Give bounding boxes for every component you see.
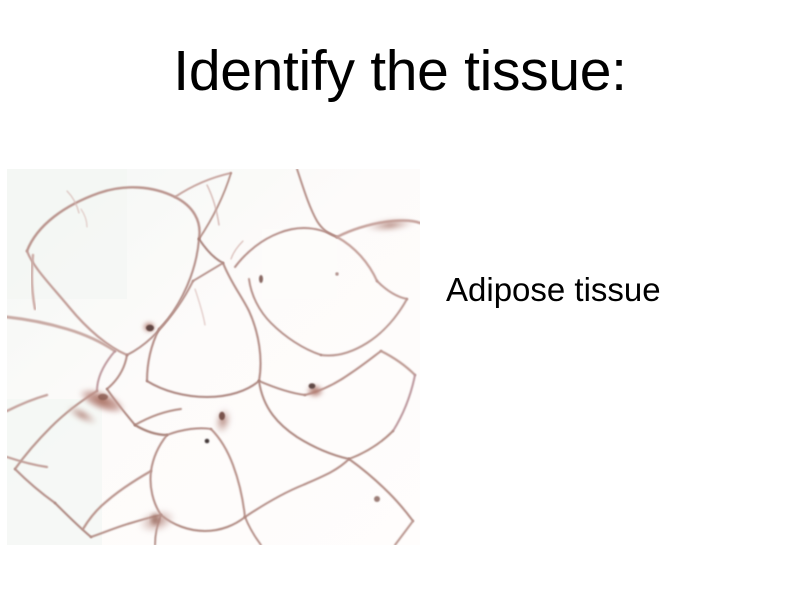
micrograph-canvas (7, 169, 420, 545)
micrograph-haze (7, 169, 420, 545)
adipose-tissue-micrograph (7, 169, 420, 545)
page-title: Identify the tissue: (0, 40, 800, 102)
slide-canvas: Identify the tissue: (0, 0, 800, 600)
answer-label: Adipose tissue (446, 270, 661, 310)
